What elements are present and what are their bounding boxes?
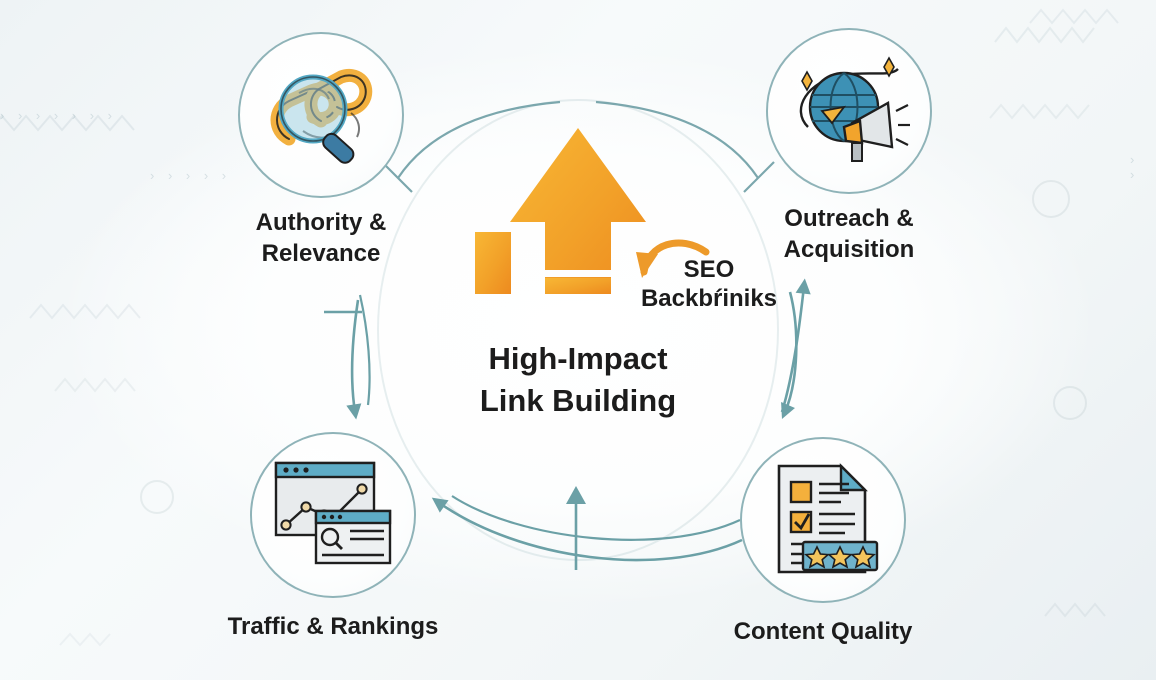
circle-outline (1032, 180, 1070, 218)
node-content-quality[interactable]: Content Quality (740, 437, 906, 648)
node-outreach-acquisition[interactable]: Outreach & Acquisition (766, 28, 932, 265)
up-arrow-shape (510, 128, 646, 294)
node-label-line-1: Traffic & Rankings (228, 612, 439, 643)
chevron-row: › › (1130, 152, 1156, 182)
chevron-row: › › › › › › › (0, 108, 117, 123)
node-authority-relevance[interactable]: Authority & Relevance (238, 32, 404, 269)
diagram-canvas: › › › › › › › › › › › › › › (0, 0, 1156, 680)
node-label-line-1: Outreach & (784, 204, 915, 235)
zigzag-line (60, 630, 180, 654)
zigzag-line (1030, 5, 1156, 33)
node-label: Outreach & Acquisition (784, 204, 915, 265)
zigzag-line (1045, 600, 1156, 626)
node-label-line-2: Relevance (256, 239, 387, 270)
chevron-row: › › › › › (150, 168, 231, 183)
node-circle (766, 28, 932, 194)
separator-gap (545, 270, 611, 277)
node-circle (740, 437, 906, 603)
node-circle (238, 32, 404, 198)
arc-content-to-traffic (438, 502, 742, 560)
arc-authority-to-outreach-left (398, 102, 560, 178)
node-label-line-1: Authority & (256, 208, 387, 239)
center-title-line-2: Link Building (480, 380, 676, 422)
zigzag-line (995, 20, 1156, 50)
node-label: Traffic & Rankings (228, 612, 439, 643)
arrow-center-up-head (566, 486, 586, 504)
center-block: High-Impact Link Building (0, 126, 1156, 422)
globe-megaphone-icon (786, 55, 912, 167)
document-checklist-star-rating-icon (765, 462, 881, 578)
node-label-line-1: Content Quality (734, 617, 913, 648)
bar-bottom (545, 278, 611, 294)
arc-content-to-traffic-inner (452, 496, 740, 540)
bar-left (475, 232, 511, 294)
magnifying-glass-chain-link-icon (259, 57, 383, 173)
node-label: Content Quality (734, 617, 913, 648)
circle-outline (140, 480, 174, 514)
background-decoration-layer: › › › › › › › › › › › › › › (0, 0, 1156, 680)
center-title-line-1: High-Impact (480, 338, 676, 380)
zigzag-line (0, 110, 190, 140)
arrow-content-to-outreach (782, 286, 804, 412)
zigzag-line (55, 375, 205, 401)
page-title: High-Impact Link Building (480, 338, 676, 422)
curved-orange-arrow (632, 226, 718, 288)
arrow-outreach-to-content (785, 292, 796, 412)
circle-outline (1053, 386, 1087, 420)
arc-authority-to-outreach-right (596, 102, 758, 178)
center-ring (378, 100, 778, 560)
connector-layer (0, 0, 1156, 680)
node-label: Authority & Relevance (256, 208, 387, 269)
node-circle (250, 432, 416, 598)
node-traffic-rankings[interactable]: Traffic & Rankings (250, 432, 416, 643)
browser-analytics-chart-icon (272, 459, 394, 571)
node-label-line-2: Acquisition (784, 235, 915, 266)
zigzag-line (30, 300, 210, 328)
zigzag-line (990, 100, 1156, 128)
callout-line-2-text: Backbŕiniks (641, 285, 777, 312)
callout-line-2: Backbŕiniks (639, 284, 779, 313)
arrow-authority-to-traffic (352, 300, 358, 412)
arrow-authority-to-traffic-inner (360, 295, 370, 405)
